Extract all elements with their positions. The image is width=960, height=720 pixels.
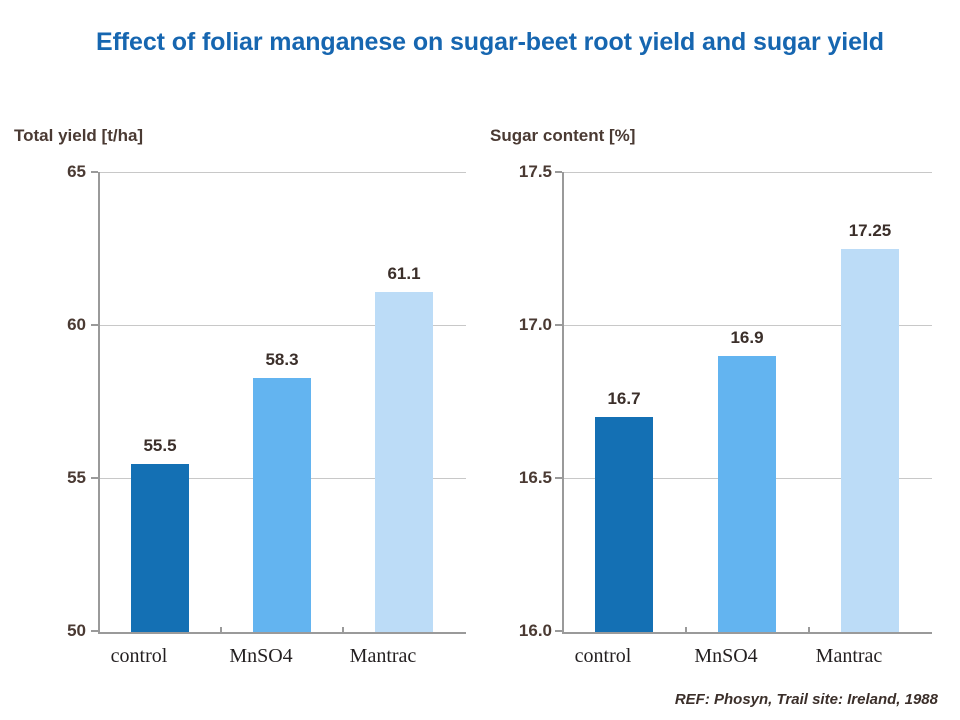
- left-tickmark-55: [91, 477, 98, 479]
- left-category-mantrac: Mantrac: [323, 645, 443, 668]
- left-ytick-50: 50: [20, 621, 86, 641]
- right-category-mantrac: Mantrac: [789, 645, 909, 668]
- left-chart-axis-title: Total yield [t/ha]: [14, 126, 143, 146]
- right-tickmark-16-0: [555, 630, 562, 632]
- page-title: Effect of foliar manganese on sugar-beet…: [96, 26, 916, 58]
- right-tickmark-17-0: [555, 324, 562, 326]
- left-category-mnso4: MnSO4: [201, 645, 321, 668]
- right-ytick-16-0: 16.0: [480, 621, 552, 641]
- bar-value-control: 55.5: [120, 436, 200, 456]
- bar-mantrac[interactable]: [841, 249, 899, 632]
- bar-control[interactable]: [131, 464, 189, 632]
- left-ytick-55: 55: [20, 468, 86, 488]
- bar-control[interactable]: [595, 417, 653, 632]
- left-tickmark-60: [91, 324, 98, 326]
- right-tickmark-16-5: [555, 477, 562, 479]
- bar-mantrac[interactable]: [375, 292, 433, 632]
- right-category-mnso4: MnSO4: [666, 645, 786, 668]
- bar-value-mantrac: 61.1: [364, 264, 444, 284]
- left-category-control: control: [79, 645, 199, 668]
- left-ytick-65: 65: [20, 162, 86, 182]
- bar-value-mnso4: 58.3: [242, 350, 322, 370]
- left-tickmark-65: [91, 171, 98, 173]
- x-separator-2: [808, 627, 810, 634]
- left-plot-area: 55.5 58.3 61.1: [98, 172, 466, 634]
- bar-mnso4[interactable]: [253, 378, 311, 632]
- right-ytick-17-5: 17.5: [480, 162, 552, 182]
- right-ytick-17-0: 17.0: [480, 315, 552, 335]
- right-ytick-16-5: 16.5: [480, 468, 552, 488]
- x-separator-1: [220, 627, 222, 634]
- right-category-control: control: [543, 645, 663, 668]
- right-chart-axis-title: Sugar content [%]: [490, 126, 635, 146]
- bar-mnso4[interactable]: [718, 356, 776, 632]
- gridline-65: [100, 172, 466, 173]
- right-plot-area: 16.7 16.9 17.25: [562, 172, 932, 634]
- bar-value-mnso4: 16.9: [707, 328, 787, 348]
- left-tickmark-50: [91, 630, 98, 632]
- gridline-17-5: [564, 172, 932, 173]
- x-separator-2: [342, 627, 344, 634]
- x-separator-1: [685, 627, 687, 634]
- bar-value-control: 16.7: [584, 389, 664, 409]
- left-ytick-60: 60: [20, 315, 86, 335]
- source-footnote: REF: Phosyn, Trail site: Ireland, 1988: [675, 691, 938, 708]
- bar-value-mantrac: 17.25: [825, 221, 915, 241]
- right-tickmark-17-5: [555, 171, 562, 173]
